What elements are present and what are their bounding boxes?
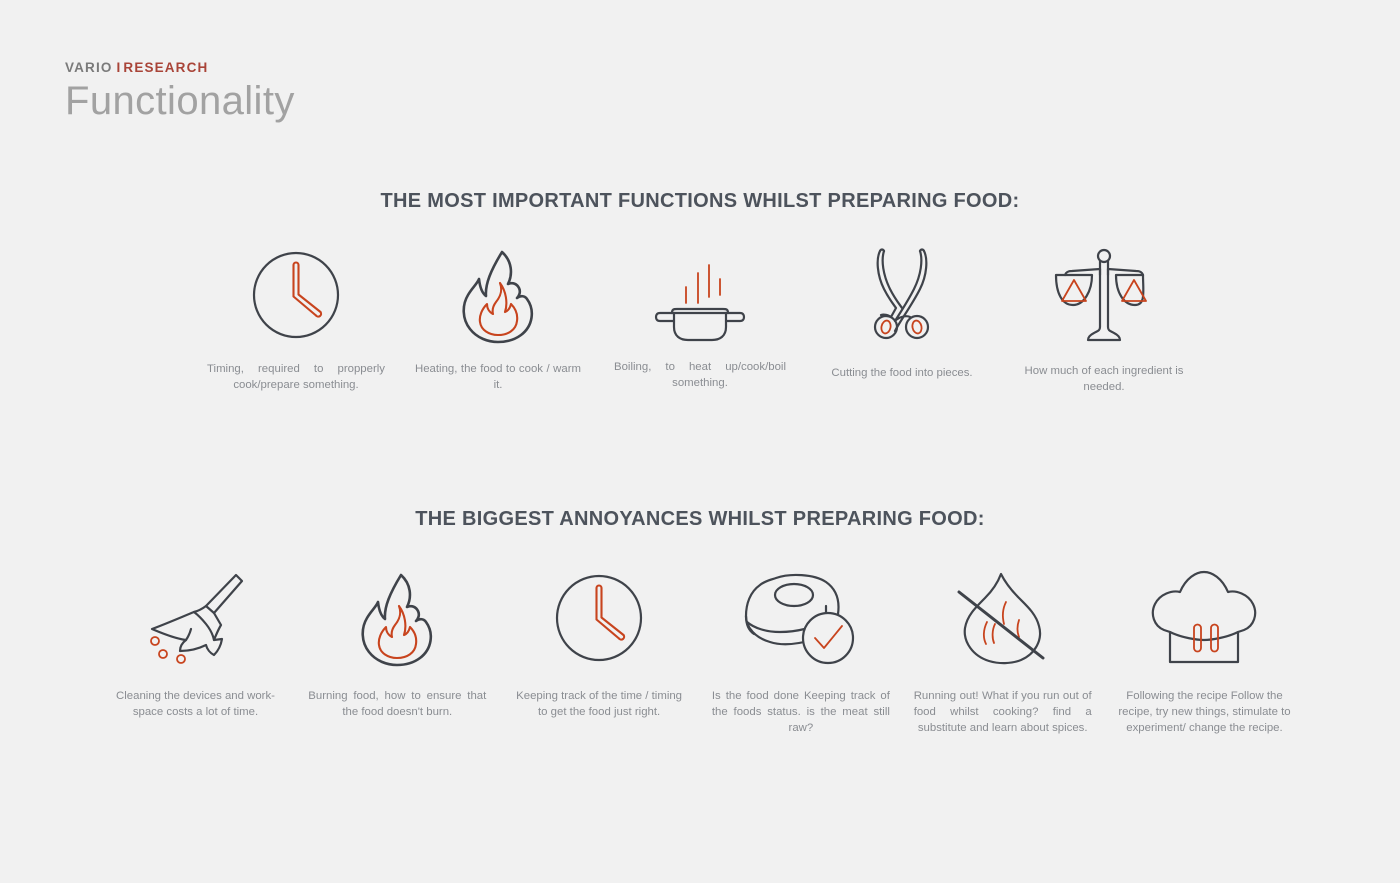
function-item-boiling: Boiling, to heat up/cook/boil something. — [599, 245, 801, 391]
brand-label: VARIO — [65, 60, 113, 75]
caption: Is the food done Keeping track of the fo… — [712, 688, 890, 737]
function-item-measuring: How much of each ingredient is needed. — [1003, 245, 1205, 395]
annoyance-item-timing: Keeping track of the time / timing to ge… — [499, 565, 700, 720]
functions-icon-row: Timing, required to propperly cook/prepa… — [195, 245, 1205, 395]
breadcrumb: VARIOIRESEARCH — [65, 60, 295, 75]
balance-scale-icon — [1054, 245, 1154, 345]
function-item-timing: Timing, required to propperly cook/prepa… — [195, 245, 397, 393]
caption: Following the recipe Follow the recipe, … — [1114, 688, 1294, 737]
caption: Keeping track of the time / timing to ge… — [510, 688, 688, 720]
annoyance-item-running-out: Running out! What if you run out of food… — [902, 565, 1103, 737]
caption: Cleaning the devices and work-space cost… — [107, 688, 285, 720]
function-item-heating: Heating, the food to cook / warm it. — [397, 245, 599, 393]
broom-icon — [144, 565, 248, 670]
chef-hat-icon — [1148, 565, 1260, 670]
scissors-icon — [862, 245, 942, 345]
cooking-pot-icon — [650, 245, 750, 345]
caption: How much of each ingredient is needed. — [1022, 363, 1187, 395]
poster-canvas: VARIOIRESEARCH Functionality THE MOST IM… — [0, 0, 1400, 883]
breadcrumb-separator: I — [117, 60, 122, 75]
caption: Burning food, how to ensure that the foo… — [308, 688, 486, 720]
annoyance-item-burning: Burning food, how to ensure that the foo… — [297, 565, 498, 720]
annoyance-item-recipe: Following the recipe Follow the recipe, … — [1104, 565, 1305, 737]
category-label: RESEARCH — [123, 60, 208, 75]
caption: Cutting the food into pieces. — [807, 365, 997, 381]
caption: Timing, required to propperly cook/prepa… — [207, 361, 385, 393]
function-item-cutting: Cutting the food into pieces. — [801, 245, 1003, 381]
annoyance-item-cleaning: Cleaning the devices and work-space cost… — [95, 565, 296, 720]
section-heading-functions: THE MOST IMPORTANT FUNCTIONS WHILST PREP… — [0, 190, 1400, 213]
section-heading-annoyances: THE BIGGEST ANNOYANCES WHILST PREPARING … — [0, 508, 1400, 531]
caption: Running out! What if you run out of food… — [914, 688, 1092, 737]
page-header: VARIOIRESEARCH Functionality — [65, 60, 295, 122]
caption: Heating, the food to cook / warm it. — [415, 361, 581, 393]
annoyance-item-doneness: Is the food done Keeping track of the fo… — [700, 565, 901, 737]
clock-icon — [250, 245, 342, 345]
flame-icon — [354, 565, 440, 670]
flame-icon — [455, 245, 541, 345]
caption: Boiling, to heat up/cook/boil something. — [614, 359, 786, 391]
steak-check-icon — [742, 565, 860, 670]
no-flame-icon — [951, 565, 1055, 670]
annoyances-icon-row: Cleaning the devices and work-space cost… — [95, 565, 1305, 737]
page-title: Functionality — [65, 80, 295, 122]
clock-icon — [553, 565, 645, 670]
